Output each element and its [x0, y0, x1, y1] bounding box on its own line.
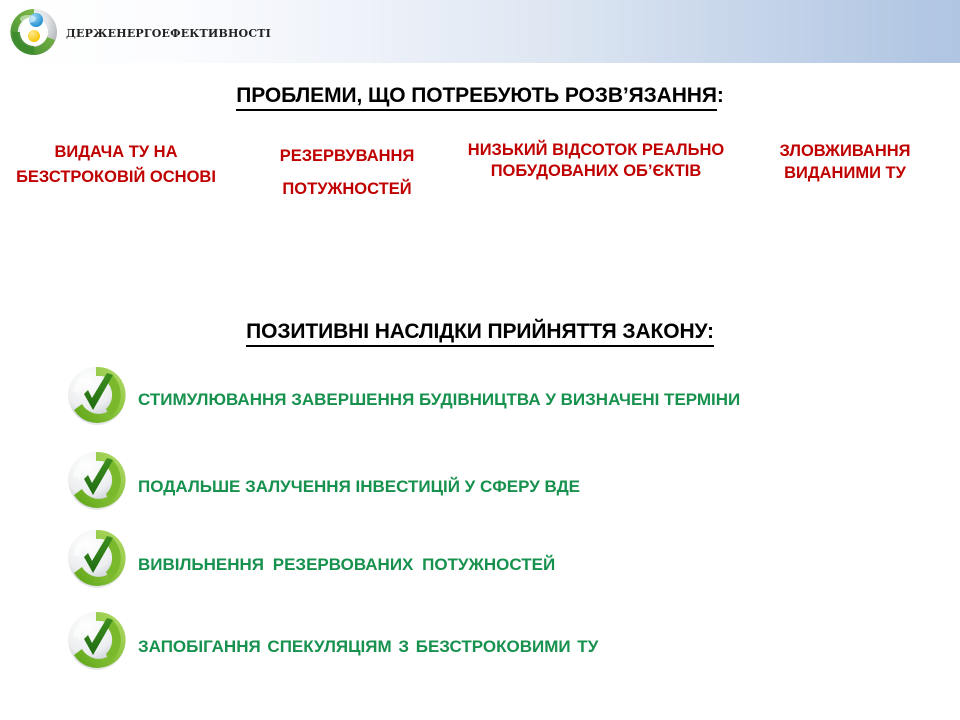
problem-column-2: РЕЗЕРВУВАННЯ ПОТУЖНОСТЕЙ	[232, 140, 462, 206]
energy-efficiency-sphere-logo-icon	[8, 6, 60, 58]
green-check-circle-icon	[66, 365, 128, 427]
organization-name: Держенергоефективності	[66, 23, 271, 41]
problem-column-3: НИЗЬКИЙ ВІДСОТОК РЕАЛЬНО ПОБУДОВАНИХ ОБ’…	[462, 140, 730, 182]
green-check-circle-icon	[66, 450, 128, 512]
organization-logo: Держенергоефективності	[8, 4, 308, 60]
problem-column-4: ЗЛОВЖИВАННЯ ВИДАНИМИ ТУ	[730, 140, 960, 185]
benefit-label: СТИМУЛЮВАННЯ ЗАВЕРШЕННЯ БУДІВНИЦТВА У ВИ…	[138, 365, 942, 413]
list-item: СТИМУЛЮВАННЯ ЗАВЕРШЕННЯ БУДІВНИЦТВА У ВИ…	[0, 365, 960, 427]
problems-columns: ВИДАЧА ТУ НА БЕЗСТРОКОВІЙ ОСНОВІ РЕЗЕРВУ…	[0, 140, 960, 206]
header-band: Держенергоефективності	[0, 0, 960, 63]
problems-heading-colon: :	[717, 84, 724, 107]
problem-column-1: ВИДАЧА ТУ НА БЕЗСТРОКОВІЙ ОСНОВІ	[0, 140, 232, 190]
green-check-circle-icon	[66, 528, 128, 590]
problems-heading-text: ПРОБЛЕМИ, ЩО ПОТРЕБУЮТЬ РОЗВ’ЯЗАННЯ	[236, 84, 717, 111]
benefit-label: ЗАПОБІГАННЯ СПЕКУЛЯЦІЯМ З БЕЗСТРОКОВИМИ …	[138, 610, 942, 660]
benefit-label: ВИВІЛЬНЕННЯ РЕЗЕРВОВАНИХ ПОТУЖНОСТЕЙ	[138, 528, 942, 578]
list-item: ВИВІЛЬНЕННЯ РЕЗЕРВОВАНИХ ПОТУЖНОСТЕЙ	[0, 528, 960, 590]
list-item: ЗАПОБІГАННЯ СПЕКУЛЯЦІЯМ З БЕЗСТРОКОВИМИ …	[0, 610, 960, 672]
page-title-problems: ПРОБЛЕМИ, ЩО ПОТРЕБУЮТЬ РОЗВ’ЯЗАННЯ:	[0, 84, 960, 108]
green-check-circle-icon	[66, 610, 128, 672]
benefit-label: ПОДАЛЬШЕ ЗАЛУЧЕННЯ ІНВЕСТИЦІЙ У СФЕРУ ВД…	[138, 450, 942, 500]
list-item: ПОДАЛЬШЕ ЗАЛУЧЕННЯ ІНВЕСТИЦІЙ У СФЕРУ ВД…	[0, 450, 960, 512]
page-title-results: ПОЗИТИВНІ НАСЛІДКИ ПРИЙНЯТТЯ ЗАКОНУ:	[0, 320, 960, 344]
results-heading-text: ПОЗИТИВНІ НАСЛІДКИ ПРИЙНЯТТЯ ЗАКОНУ:	[246, 320, 714, 347]
